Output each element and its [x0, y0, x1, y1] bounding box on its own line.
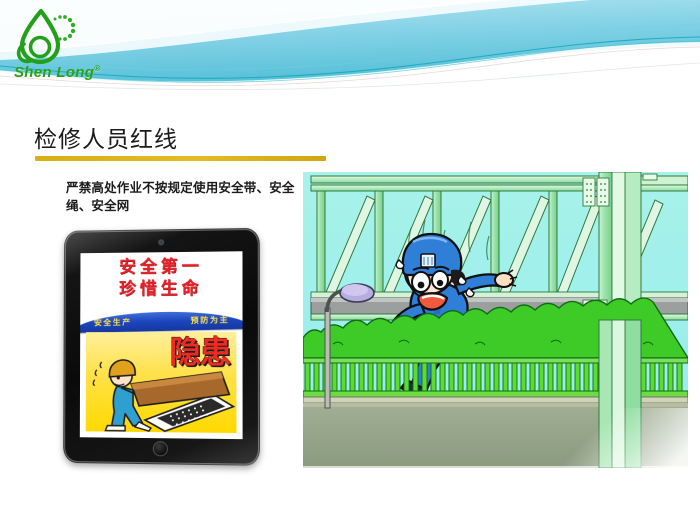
worker-falling-from-height-illustration — [303, 172, 688, 468]
page-title: 检修人员红线 — [34, 120, 178, 154]
poster-hazard-word: 隐患 — [170, 338, 230, 369]
subtitle-text: 严禁高处作业不按规定使用安全带、安全绳、安全网 — [66, 179, 311, 215]
poster-headline-line1: 安全第一 — [80, 255, 242, 279]
safety-poster: 安全第一 珍惜生命 安全生产 预防为主 — [80, 251, 243, 439]
header-banner — [0, 0, 700, 92]
tablet-device: 安全第一 珍惜生命 安全生产 预防为主 — [62, 229, 259, 464]
poster-ribbon-left-text: 安全生产 — [94, 317, 132, 329]
accident-illustration-photo — [303, 172, 688, 468]
poster-headline: 安全第一 珍惜生命 — [80, 255, 242, 300]
registered-mark: ® — [94, 64, 100, 73]
tablet-home-button[interactable] — [154, 442, 167, 455]
poster-illustration: 隐患 — [86, 332, 237, 433]
header-swoosh-graphic — [0, 0, 700, 92]
poster-headline-line2: 珍惜生命 — [80, 278, 242, 301]
tablet-body: 安全第一 珍惜生命 安全生产 预防为主 — [63, 228, 260, 466]
tablet-camera-icon — [159, 240, 163, 244]
water-droplet-logo-icon — [10, 8, 84, 66]
title-underline-rule — [35, 156, 326, 161]
brand-name: Shen Long® — [14, 64, 100, 81]
tablet-screen: 安全第一 珍惜生命 安全生产 预防为主 — [80, 251, 243, 439]
poster-ribbon: 安全生产 预防为主 — [80, 310, 243, 333]
poster-ribbon-right-text: 预防为主 — [190, 314, 229, 326]
brand-logo: Shen Long® — [8, 8, 100, 86]
brand-name-text: Shen Long — [14, 64, 94, 81]
